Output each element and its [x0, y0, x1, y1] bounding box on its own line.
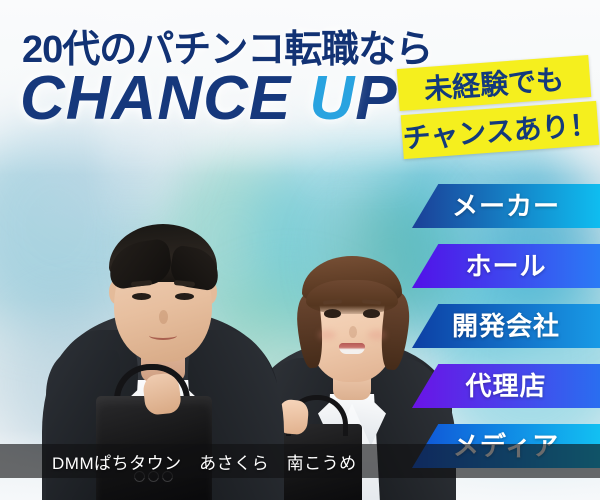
man-hand: [142, 372, 182, 416]
category-label: 開発会社: [452, 313, 560, 339]
category-label: 代理店: [465, 373, 546, 399]
woman-smile: [339, 343, 365, 354]
woman-hair-bangs: [306, 280, 398, 314]
woman-nose: [349, 326, 357, 338]
woman-eye-left: [324, 309, 341, 318]
logo-text-chance: CHANCE: [20, 64, 309, 133]
caption-credits: DMMぱちタウン あさくら 南こうめ: [52, 449, 357, 474]
logo-text-u-accent: U: [309, 68, 355, 130]
category-bar-hall[interactable]: ホール: [412, 244, 600, 288]
category-bar-agency[interactable]: 代理店: [412, 364, 600, 408]
category-bar-maker[interactable]: メーカー: [412, 184, 600, 228]
logo-chance-up: CHANCE UP: [20, 68, 398, 130]
category-label: ホール: [465, 253, 546, 279]
woman-eye-right: [363, 309, 380, 318]
woman-cheek-right: [368, 330, 386, 340]
caption-band: DMMぱちタウン あさくら 南こうめ: [0, 444, 600, 478]
man-eye-right: [175, 293, 194, 300]
woman-cheek-left: [318, 330, 336, 340]
logo-text-p: P: [355, 64, 397, 133]
advertisement-banner[interactable]: 20代のパチンコ転職なら CHANCE UP 未経験でも チャンスあり！ メーカ…: [0, 0, 600, 500]
man-mouth: [149, 331, 177, 340]
man-eye-left: [132, 293, 151, 300]
category-label: メーカー: [452, 193, 560, 219]
category-bar-development-company[interactable]: 開発会社: [412, 304, 600, 348]
man-nose: [159, 310, 168, 324]
